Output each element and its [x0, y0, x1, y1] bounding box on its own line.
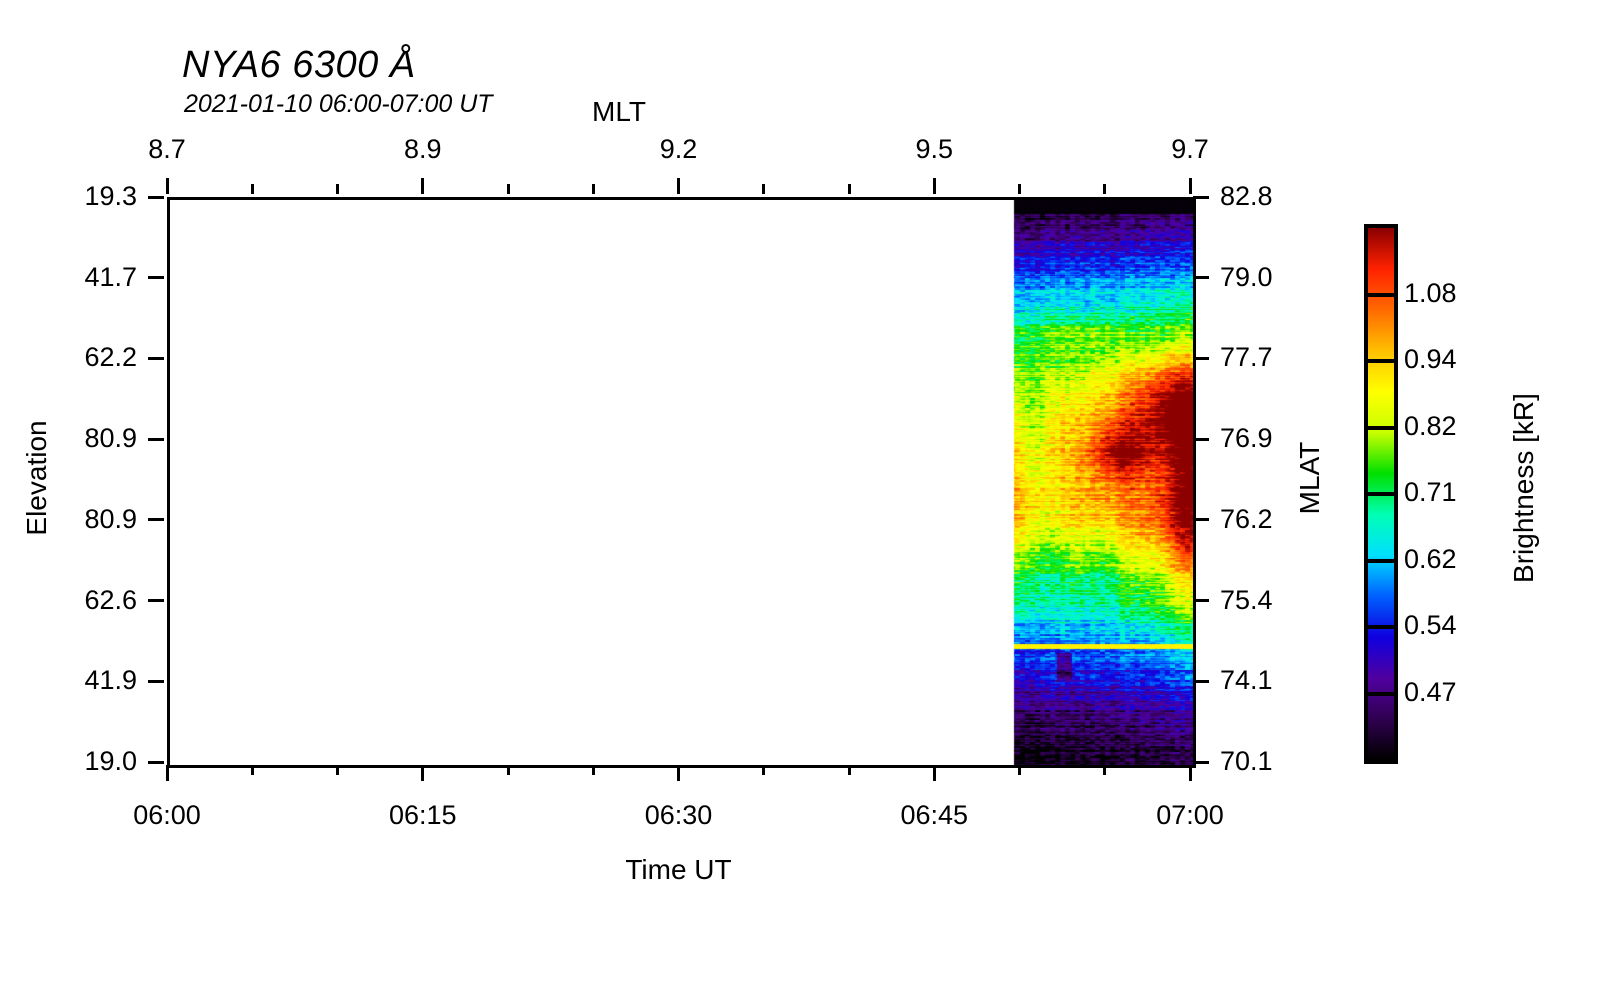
mlt-tick-label: 8.7 [87, 134, 247, 165]
elevation-major-tick [148, 196, 164, 199]
mlat-major-tick [1193, 276, 1209, 279]
elevation-tick-label: 19.3 [0, 181, 137, 212]
colorbar-tick-label: 0.94 [1404, 344, 1457, 375]
colorbar-separator [1364, 492, 1398, 496]
x-minor-tick [507, 765, 510, 775]
x-minor-tick [251, 765, 254, 775]
x-minor-tick [336, 765, 339, 775]
keogram-heatmap [170, 200, 1193, 765]
elevation-major-tick [148, 599, 164, 602]
mlt-minor-tick [507, 184, 510, 194]
elevation-major-tick [148, 276, 164, 279]
mlat-major-tick [1193, 761, 1209, 764]
mlt-minor-tick [762, 184, 765, 194]
mlt-major-tick [933, 178, 936, 194]
colorbar-tick-label: 0.62 [1404, 544, 1457, 575]
elevation-major-tick [148, 518, 164, 521]
colorbar-separator [1364, 625, 1398, 629]
page-title: NYA6 6300 Å [182, 44, 416, 87]
elevation-tick-label: 19.0 [0, 746, 137, 777]
x-tick-label: 06:15 [343, 800, 503, 831]
mlt-minor-tick [1103, 184, 1106, 194]
elevation-tick-label: 41.7 [0, 262, 137, 293]
mlt-tick-label: 9.5 [854, 134, 1014, 165]
colorbar-separator [1364, 293, 1398, 297]
x-major-tick [933, 765, 936, 781]
colorbar-tick-label: 0.71 [1404, 477, 1457, 508]
x-minor-tick [848, 765, 851, 775]
x-minor-tick [1103, 765, 1106, 775]
mlt-major-tick [1189, 178, 1192, 194]
mlt-tick-label: 9.7 [1110, 134, 1270, 165]
mlt-minor-tick [592, 184, 595, 194]
mlt-minor-tick [251, 184, 254, 194]
x-tick-label: 06:45 [854, 800, 1014, 831]
top-axis-title: MLT [592, 96, 646, 128]
x-minor-tick [1018, 765, 1021, 775]
x-tick-label: 06:30 [599, 800, 759, 831]
mlat-major-tick [1193, 438, 1209, 441]
x-major-tick [677, 765, 680, 781]
colorbar-title: Brightness [kR] [1508, 358, 1540, 618]
x-tick-label: 06:00 [87, 800, 247, 831]
x-major-tick [166, 765, 169, 781]
elevation-tick-label: 41.9 [0, 665, 137, 696]
mlt-minor-tick [848, 184, 851, 194]
mlat-major-tick [1193, 196, 1209, 199]
mlat-major-tick [1193, 680, 1209, 683]
secondary-y-axis-title: MLAT [1294, 378, 1326, 578]
mlat-major-tick [1193, 357, 1209, 360]
x-minor-tick [592, 765, 595, 775]
elevation-major-tick [148, 761, 164, 764]
colorbar-separator [1364, 692, 1398, 696]
colorbar-separator [1364, 426, 1398, 430]
mlat-tick-label: 82.8 [1220, 181, 1405, 212]
colorbar-tick-label: 0.82 [1404, 411, 1457, 442]
elevation-major-tick [148, 680, 164, 683]
elevation-major-tick [148, 357, 164, 360]
mlt-minor-tick [1018, 184, 1021, 194]
elevation-major-tick [148, 438, 164, 441]
x-major-tick [421, 765, 424, 781]
mlt-major-tick [421, 178, 424, 194]
page-subtitle: 2021-01-10 06:00-07:00 UT [184, 90, 493, 119]
colorbar-tick-label: 1.08 [1404, 278, 1457, 309]
mlat-major-tick [1193, 599, 1209, 602]
elevation-tick-label: 62.2 [0, 342, 137, 373]
mlat-major-tick [1193, 518, 1209, 521]
colorbar-separator [1364, 359, 1398, 363]
x-axis-title: Time UT [589, 854, 769, 886]
x-minor-tick [762, 765, 765, 775]
y-axis-title: Elevation [21, 378, 53, 578]
x-major-tick [1189, 765, 1192, 781]
elevation-tick-label: 62.6 [0, 585, 137, 616]
colorbar-tick-label: 0.47 [1404, 677, 1457, 708]
x-tick-label: 07:00 [1110, 800, 1270, 831]
colorbar-separator [1364, 559, 1398, 563]
keogram-plot-area [167, 197, 1196, 768]
mlt-tick-label: 9.2 [599, 134, 759, 165]
mlt-tick-label: 8.9 [343, 134, 503, 165]
mlt-minor-tick [336, 184, 339, 194]
mlt-major-tick [166, 178, 169, 194]
colorbar-tick-label: 0.54 [1404, 610, 1457, 641]
mlt-major-tick [677, 178, 680, 194]
